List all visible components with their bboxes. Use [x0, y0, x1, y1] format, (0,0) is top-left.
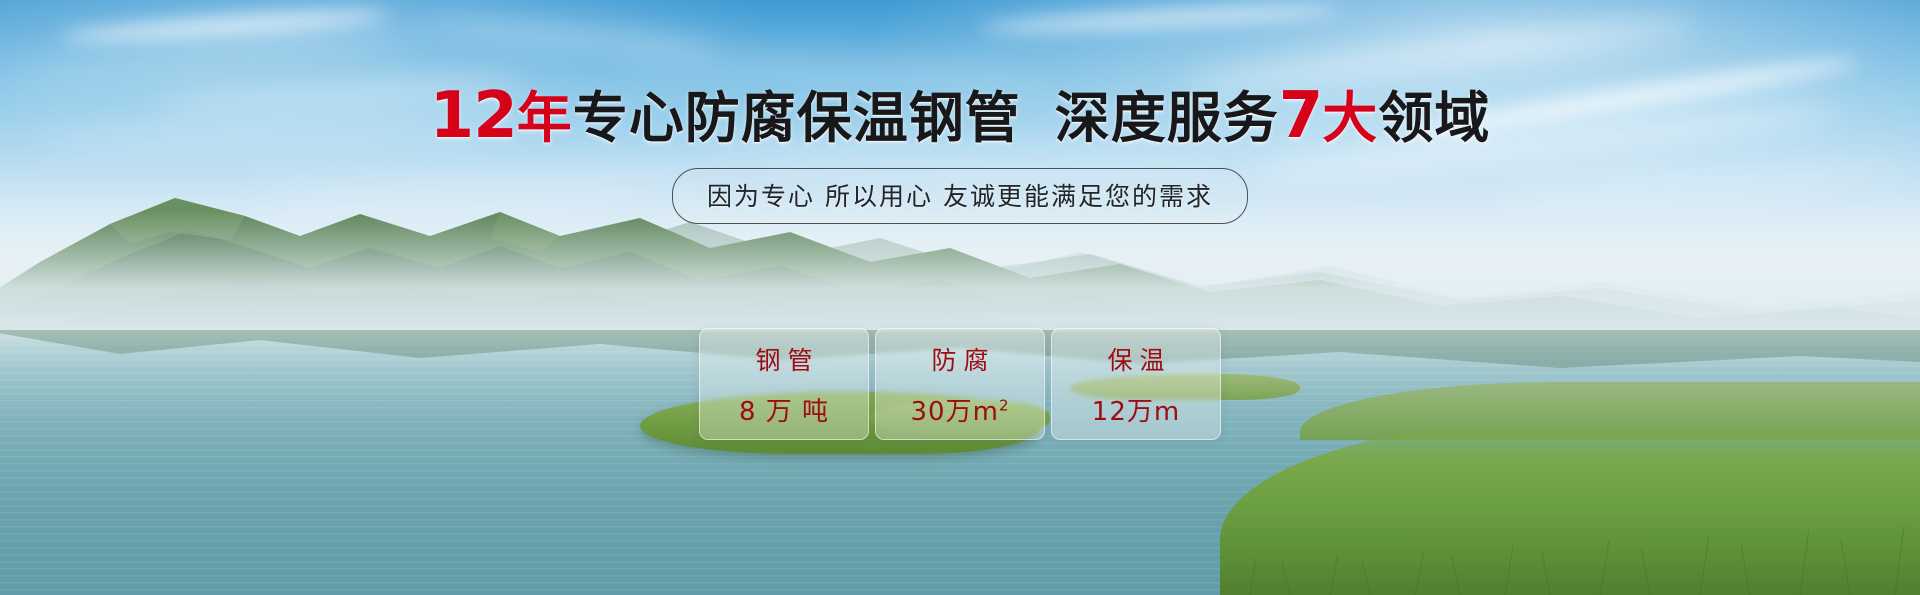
page-title: 12年专心防腐保温钢管深度服务7大领域	[0, 83, 1920, 150]
stat-card-value: 12万m	[1092, 391, 1180, 428]
headline-tail-text: 领域	[1378, 86, 1490, 150]
stat-card-value-text: 30万m	[911, 397, 999, 427]
stat-card-title: 保温	[1100, 341, 1171, 377]
stat-card-title: 防腐	[924, 341, 995, 377]
stat-card-insulation: 保温 12万m	[1051, 328, 1221, 440]
stats-card-group: 钢管 8 万 吨 防腐 30万m2 保温 12万m	[0, 328, 1920, 440]
stat-card-anticorrosion: 防腐 30万m2	[875, 328, 1045, 440]
stat-card-title: 钢管	[748, 341, 819, 377]
stat-card-value: 30万m2	[911, 391, 1010, 428]
subtitle-pill: 因为专心 所以用心 友诚更能满足您的需求	[672, 168, 1248, 224]
headline-lead-number: 12	[430, 79, 517, 153]
headline-highlight-number: 7	[1279, 79, 1323, 153]
headline-highlight-unit: 大	[1322, 86, 1378, 150]
headline-second-text: 深度服务	[1055, 86, 1279, 150]
stat-card-value-text: 8 万 吨	[739, 397, 829, 427]
headline-lead-unit: 年	[517, 86, 573, 150]
stat-card-steel-pipe: 钢管 8 万 吨	[699, 328, 869, 440]
stat-card-value-superscript: 2	[999, 396, 1010, 414]
headline-main-text: 专心防腐保温钢管	[573, 86, 1021, 150]
stat-card-value: 8 万 吨	[739, 391, 829, 428]
promo-banner: 12年专心防腐保温钢管深度服务7大领域 因为专心 所以用心 友诚更能满足您的需求…	[0, 0, 1920, 595]
stat-card-value-text: 12万m	[1092, 397, 1180, 427]
subtitle-container: 因为专心 所以用心 友诚更能满足您的需求	[0, 168, 1920, 224]
